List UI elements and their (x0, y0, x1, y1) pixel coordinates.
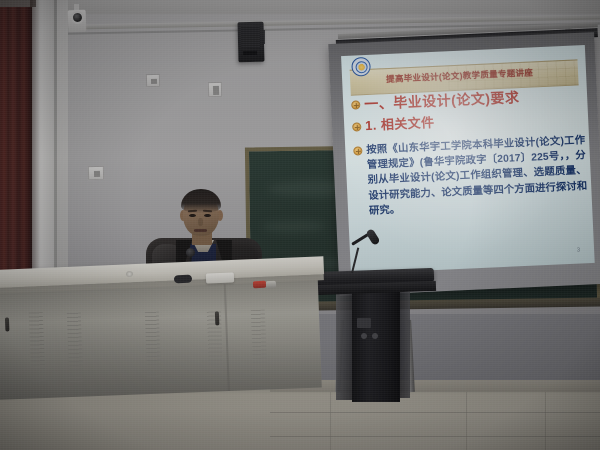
pillar-edge (54, 0, 57, 300)
nose (198, 218, 203, 226)
desk-cabinet-handle[interactable] (215, 311, 220, 325)
wall-outlet-plate[interactable] (88, 166, 104, 180)
speaker-grille (241, 26, 261, 48)
desk-vent (251, 310, 267, 372)
floor-grout-line (270, 436, 600, 437)
floor-grout-line (545, 392, 546, 450)
floor-grout-line (330, 392, 331, 450)
speaker-port (243, 51, 257, 55)
lectern-knob[interactable] (361, 333, 367, 339)
slide-body-text: 按照《山东华宇工学院本科毕业设计(论文)工作管理规定》(鲁华宇院政字〔2017〕… (366, 133, 588, 219)
wall-switch-plate[interactable] (146, 74, 160, 87)
chalk-smudge (262, 220, 326, 233)
slide-heading-2-row: 1. 相关文件 (352, 109, 580, 133)
switch-rocker (151, 79, 157, 84)
desk-object-dark[interactable] (174, 275, 192, 284)
floor-grout-line (270, 412, 600, 413)
desk-cabinet-handle[interactable] (5, 317, 10, 331)
slide-heading-2: 1. 相关文件 (365, 116, 435, 133)
desk-vent (29, 312, 46, 384)
desk-object-grey[interactable] (266, 281, 276, 288)
mouth (194, 229, 207, 232)
floor-grout-line (466, 392, 467, 450)
slide-page-number: 3 (577, 247, 581, 253)
desk-shading (0, 280, 322, 400)
floor (0, 392, 600, 450)
university-emblem-inner (355, 60, 368, 73)
outlet-socket (94, 171, 100, 177)
desk-vent (67, 313, 84, 383)
eye-right (204, 214, 211, 217)
bullet-gear-icon (351, 100, 360, 109)
eye-left (189, 214, 196, 217)
desk-microphone-icon (186, 248, 195, 257)
lectern-control-display[interactable] (357, 318, 371, 328)
window-glass (56, 0, 68, 285)
bullet-gear-icon (352, 122, 361, 131)
wall-switch-plate[interactable] (208, 82, 222, 97)
desk-object-white[interactable] (206, 272, 234, 283)
desk-vent (145, 312, 162, 378)
teacher-desk-front (0, 280, 322, 400)
bullet-gear-icon (353, 146, 362, 155)
lectern-knob[interactable] (372, 333, 378, 339)
lecture-hall-photo: 提高毕业设计(论文)教学质量专题讲座 一、毕业设计(论文)要求 1. 相关文件 … (0, 0, 600, 450)
slide-body-row: 按照《山东华宇工学院本科毕业设计(论文)工作管理规定》(鲁华宇院政字〔2017〕… (353, 133, 588, 220)
desk-object-red[interactable] (253, 281, 266, 289)
switch-rocker (213, 86, 219, 95)
lectern-body (352, 290, 400, 402)
